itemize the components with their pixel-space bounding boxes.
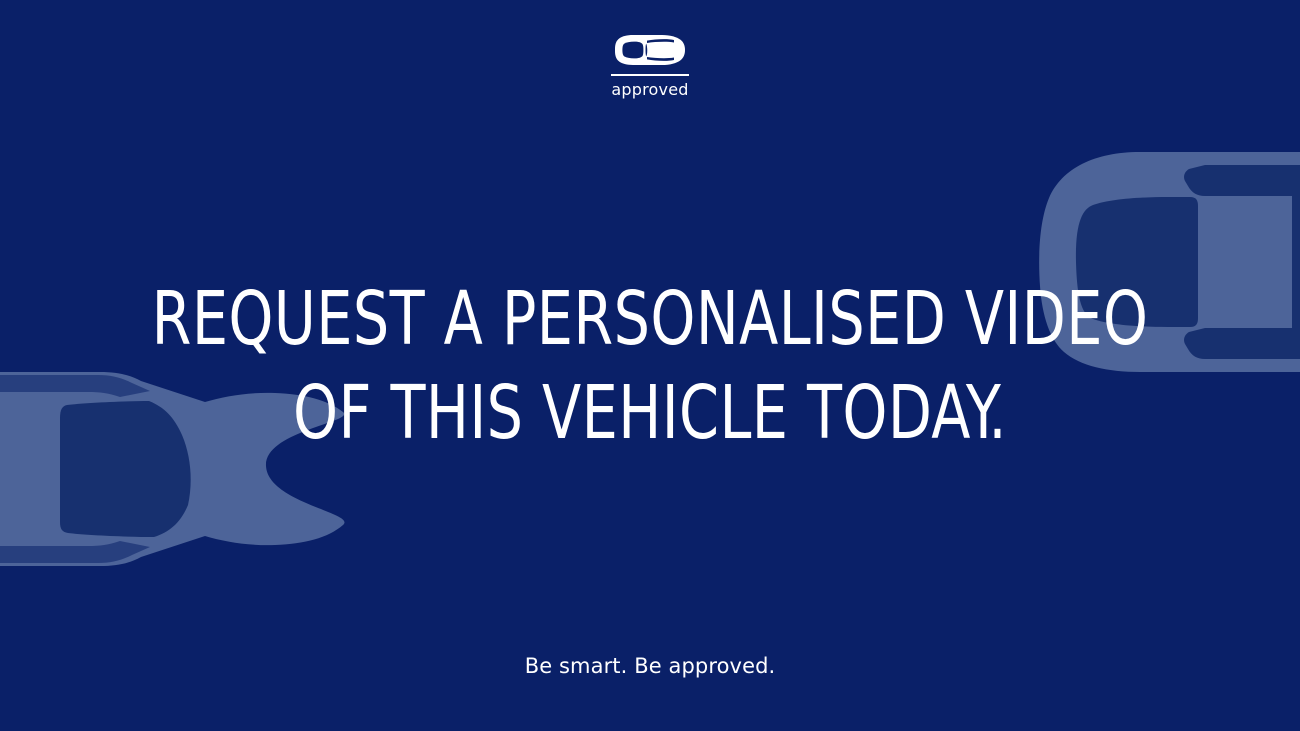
headline-line-2: OF THIS VEHICLE TODAY.: [91, 366, 1209, 460]
promo-banner: approved REQUEST A PERSONALISED VIDEO OF…: [0, 0, 1300, 731]
page-title: REQUEST A PERSONALISED VIDEO OF THIS VEH…: [0, 272, 1300, 460]
logo-divider: [611, 74, 689, 76]
brand-tagline: Be smart. Be approved.: [0, 652, 1300, 680]
headline-line-1: REQUEST A PERSONALISED VIDEO: [91, 272, 1209, 366]
car-top-view-icon: [614, 33, 686, 67]
brand-word: approved: [611, 82, 688, 98]
brand-logo: approved: [0, 33, 1300, 98]
